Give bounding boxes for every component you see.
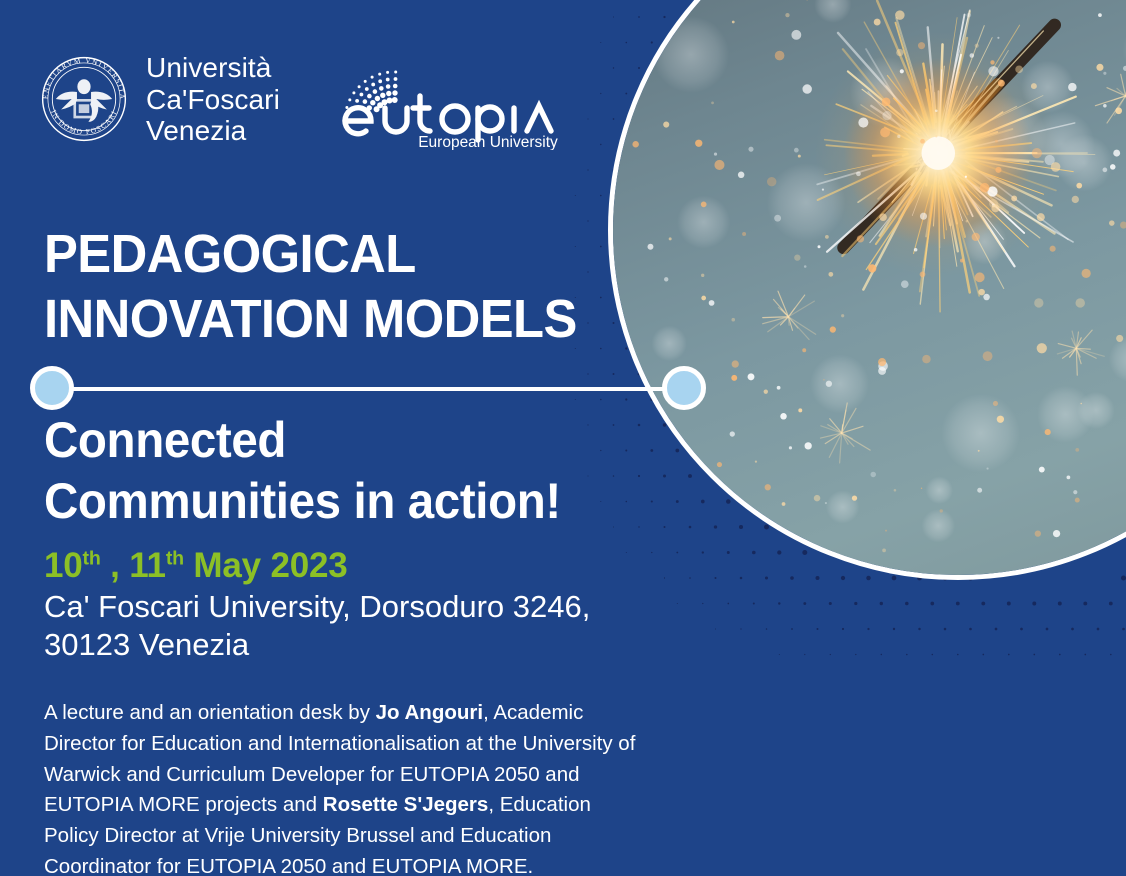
date-day-1-suffix: th <box>83 547 101 569</box>
connector-rule <box>46 387 686 391</box>
headline-line-2: INNOVATION MODELS <box>44 287 646 352</box>
date-month-year: May 2023 <box>184 546 348 585</box>
event-description: A lecture and an orientation desk by Jo … <box>44 698 644 876</box>
description-name-3: Rosette S'Jegers <box>323 793 489 816</box>
page-title: PEDAGOGICAL INNOVATION MODELS <box>44 222 684 352</box>
subtitle-line-2: Communities in action! <box>44 471 662 532</box>
connector-node-right <box>662 366 706 410</box>
date-day-2: 11 <box>129 546 166 585</box>
ca-foscari-logo: VENETIARVM VNIVERSITAS IN DOMO FOSCARI U… <box>40 52 280 147</box>
description-text-0: A lecture and an orientation desk by <box>44 701 376 724</box>
event-date: 10th , 11th May 2023 <box>44 546 348 586</box>
date-day-2-suffix: th <box>166 547 184 569</box>
date-day-1: 10 <box>44 546 83 585</box>
eutopia-tagline: European University <box>418 134 558 150</box>
page-subtitle: Connected Communities in action! <box>44 410 694 532</box>
poster-canvas: VENETIARVM VNIVERSITAS IN DOMO FOSCARI U… <box>0 0 1126 876</box>
event-venue: Ca' Foscari University, Dorsoduro 3246, … <box>44 588 684 664</box>
subtitle-line-1: Connected <box>44 410 662 471</box>
logo-row: VENETIARVM VNIVERSITAS IN DOMO FOSCARI U… <box>40 52 563 150</box>
date-separator: , <box>101 546 130 585</box>
connector-line-with-nodes <box>22 366 702 412</box>
description-name-1: Jo Angouri <box>376 701 483 724</box>
ca-foscari-seal-icon: VENETIARVM VNIVERSITAS IN DOMO FOSCARI <box>40 55 128 143</box>
ca-foscari-wordmark: Università Ca'Foscari Venezia <box>146 52 280 147</box>
headline-line-1: PEDAGOGICAL <box>44 222 646 287</box>
connector-node-left <box>30 366 74 410</box>
eutopia-logo: European University <box>328 58 563 150</box>
